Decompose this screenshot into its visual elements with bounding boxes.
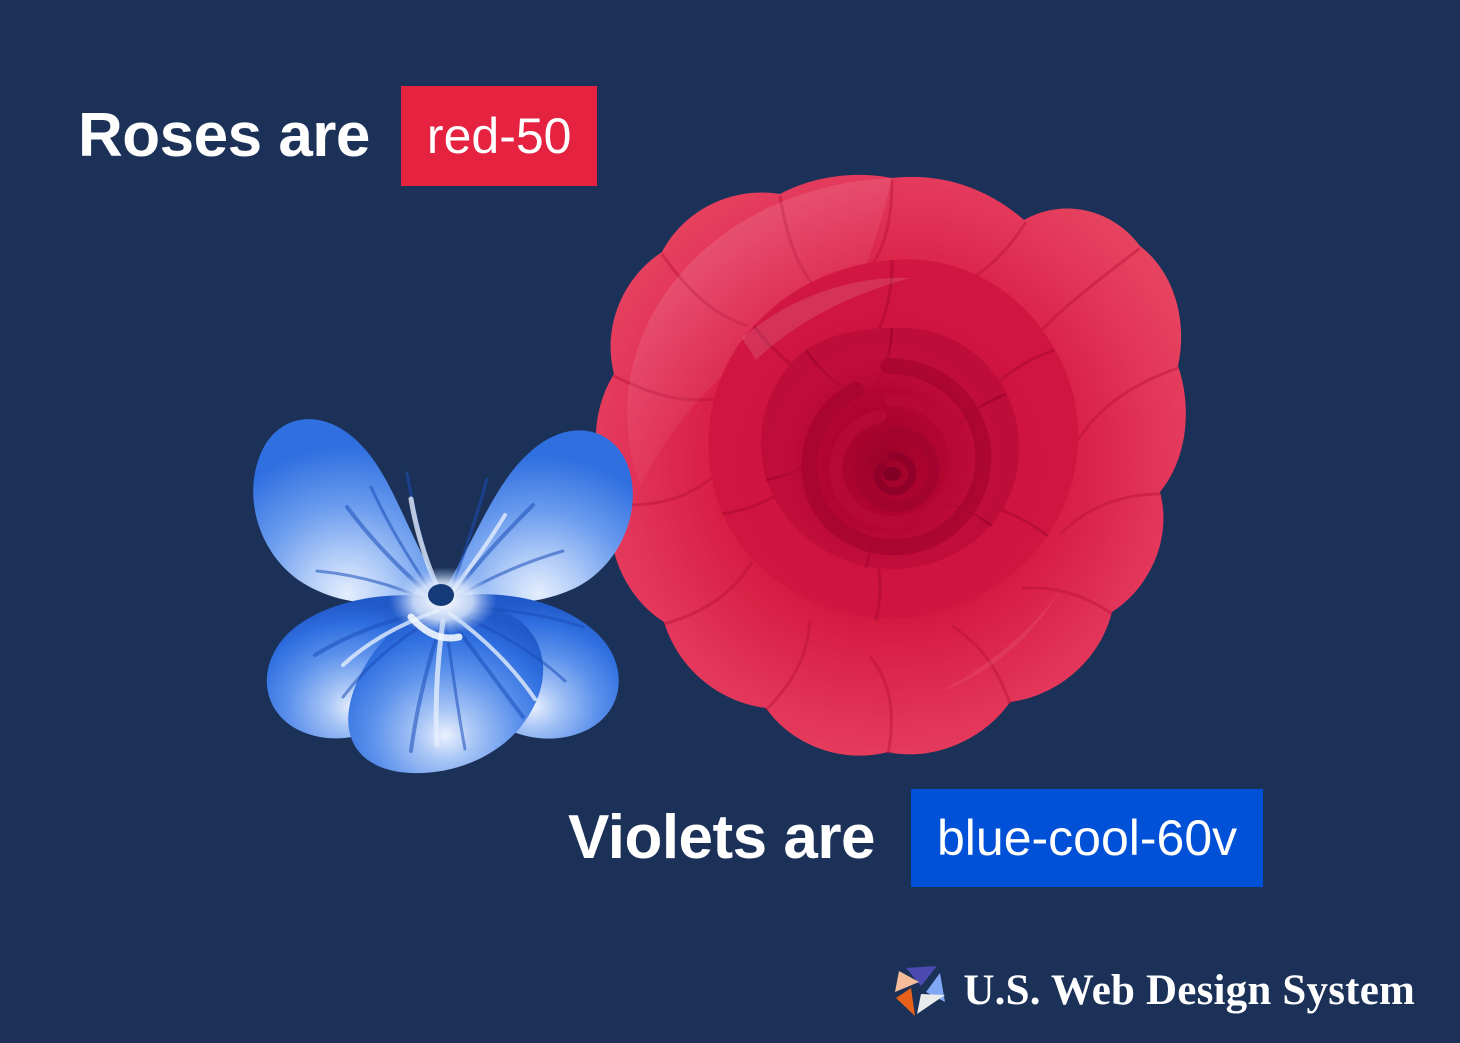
violets-label: Violets are	[568, 807, 875, 869]
rose-image	[592, 168, 1192, 768]
roses-line: Roses are red-50	[78, 86, 597, 186]
uswds-wordmark: U.S. Web Design System	[963, 969, 1415, 1012]
roses-label: Roses are	[78, 105, 370, 167]
violet-image	[243, 355, 643, 775]
red-token-badge[interactable]: red-50	[401, 86, 598, 186]
uswds-logo-lockup[interactable]: U.S. Web Design System	[893, 962, 1415, 1018]
poster-canvas: Roses are red-50 Violets are blue-cool-6…	[0, 0, 1460, 1043]
blue-token-badge[interactable]: blue-cool-60v	[911, 789, 1263, 887]
violets-line: Violets are blue-cool-60v	[568, 789, 1263, 887]
uswds-pinwheel-icon	[893, 962, 949, 1018]
